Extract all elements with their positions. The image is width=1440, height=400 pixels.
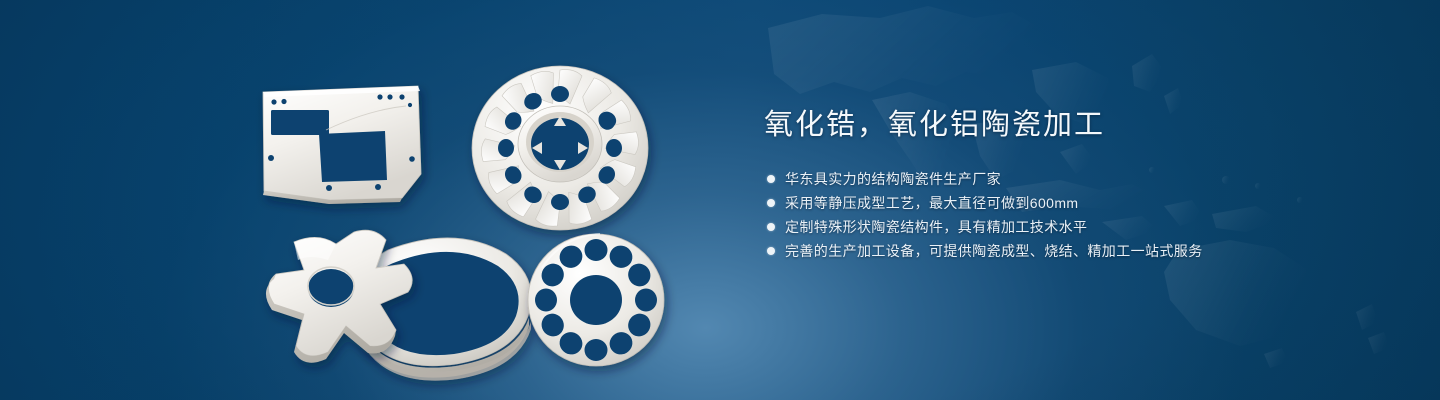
ceramic-bladed-impeller <box>472 66 648 230</box>
list-item-label: 采用等静压成型工艺，最大直径可做到600mm <box>785 192 1078 214</box>
list-item-label: 定制特殊形状陶瓷结构件，具有精加工技术水平 <box>785 216 1087 238</box>
ceramic-machined-plate <box>263 86 421 204</box>
list-item: 完善的生产加工设备，可提供陶瓷成型、烧结、精加工一站式服务 <box>767 240 1324 262</box>
feature-list: 华东具实力的结构陶瓷件生产厂家 采用等静压成型工艺，最大直径可做到600mm 定… <box>767 168 1324 262</box>
bullet-dot-icon <box>767 199 775 207</box>
page-title: 氧化锆，氧化铝陶瓷加工 <box>764 108 1324 143</box>
list-item: 采用等静压成型工艺，最大直径可做到600mm <box>767 192 1324 214</box>
list-item: 华东具实力的结构陶瓷件生产厂家 <box>767 168 1324 190</box>
hero-banner: 氧化锆，氧化铝陶瓷加工 华东具实力的结构陶瓷件生产厂家 采用等静压成型工艺，最大… <box>0 0 1440 400</box>
ceramic-parts-photo <box>230 38 670 383</box>
bullet-dot-icon <box>767 247 775 255</box>
list-item: 定制特殊形状陶瓷结构件，具有精加工技术水平 <box>767 216 1324 238</box>
list-item-label: 华东具实力的结构陶瓷件生产厂家 <box>785 168 1001 190</box>
ceramic-perforated-disc <box>528 234 664 366</box>
list-item-label: 完善的生产加工设备，可提供陶瓷成型、烧结、精加工一站式服务 <box>785 240 1203 262</box>
bullet-dot-icon <box>767 223 775 231</box>
copy-block: 氧化锆，氧化铝陶瓷加工 华东具实力的结构陶瓷件生产厂家 采用等静压成型工艺，最大… <box>764 108 1324 264</box>
bullet-dot-icon <box>767 175 775 183</box>
